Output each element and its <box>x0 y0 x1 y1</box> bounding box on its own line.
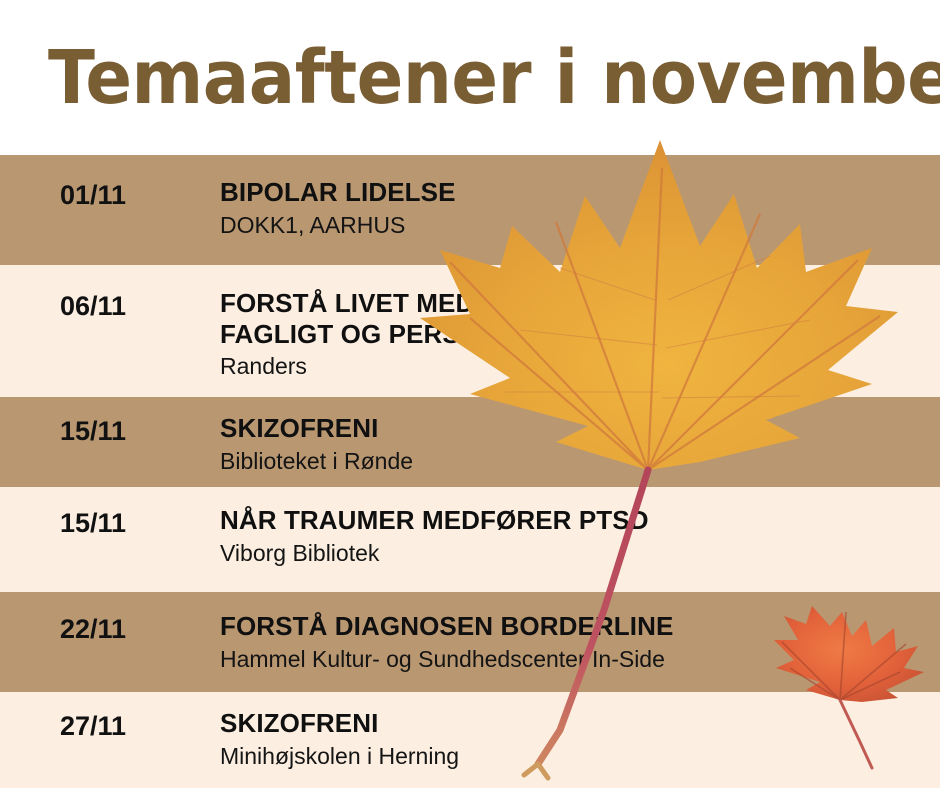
event-title: BIPOLAR LIDELSE <box>220 177 930 208</box>
event-date: 01/11 <box>60 181 126 209</box>
event-date: 15/11 <box>60 417 126 445</box>
event-date: 06/11 <box>60 292 126 320</box>
event-row: 01/11 BIPOLAR LIDELSE DOKK1, AARHUS <box>0 155 940 265</box>
event-location: Randers <box>220 353 930 381</box>
page-title: Temaaftener i november <box>48 41 940 115</box>
event-text-block: FORSTÅ LIVET MED AUTISME UD FRA ET FAGLI… <box>220 288 930 381</box>
event-title: SKIZOFRENI <box>220 708 930 739</box>
event-title-line1: SKIZOFRENI <box>220 413 378 443</box>
event-date: 15/11 <box>60 509 126 537</box>
event-title-line1: FORSTÅ LIVET MED AUTISME UD FRA ET <box>220 288 744 318</box>
event-row: 27/11 SKIZOFRENI Minihøjskolen i Herning <box>0 692 940 788</box>
event-row: 22/11 FORSTÅ DIAGNOSEN BORDERLINE Hammel… <box>0 592 940 692</box>
event-location: Minihøjskolen i Herning <box>220 743 930 771</box>
event-title-line1: SKIZOFRENI <box>220 708 378 738</box>
event-list: 01/11 BIPOLAR LIDELSE DOKK1, AARHUS 06/1… <box>0 155 940 788</box>
event-title-line1: FORSTÅ DIAGNOSEN BORDERLINE <box>220 611 673 641</box>
event-location: Viborg Bibliotek <box>220 540 930 568</box>
event-row: 15/11 NÅR TRAUMER MEDFØRER PTSD Viborg B… <box>0 487 940 592</box>
poster-canvas: Temaaftener i november 01/11 BIPOLAR LID… <box>0 0 940 788</box>
event-location: Hammel Kultur- og Sundhedscenter In-Side <box>220 646 930 674</box>
event-text-block: BIPOLAR LIDELSE DOKK1, AARHUS <box>220 177 930 239</box>
event-text-block: NÅR TRAUMER MEDFØRER PTSD Viborg Bibliot… <box>220 505 930 567</box>
poster-header: Temaaftener i november <box>0 0 940 155</box>
event-title: SKIZOFRENI <box>220 413 930 444</box>
event-text-block: SKIZOFRENI Biblioteket i Rønde <box>220 413 930 475</box>
event-location: Biblioteket i Rønde <box>220 448 930 476</box>
event-text-block: FORSTÅ DIAGNOSEN BORDERLINE Hammel Kultu… <box>220 611 930 673</box>
event-title-line2: FAGLIGT OG PERSONLIGT PERSPEKTIV <box>220 319 930 350</box>
event-title-line1: BIPOLAR LIDELSE <box>220 177 456 207</box>
event-row: 15/11 SKIZOFRENI Biblioteket i Rønde <box>0 397 940 487</box>
event-date: 27/11 <box>60 712 126 740</box>
event-title: NÅR TRAUMER MEDFØRER PTSD <box>220 505 930 536</box>
event-title-line1: NÅR TRAUMER MEDFØRER PTSD <box>220 505 649 535</box>
event-text-block: SKIZOFRENI Minihøjskolen i Herning <box>220 708 930 770</box>
event-date: 22/11 <box>60 615 126 643</box>
event-location: DOKK1, AARHUS <box>220 212 930 240</box>
event-title: FORSTÅ DIAGNOSEN BORDERLINE <box>220 611 930 642</box>
event-title: FORSTÅ LIVET MED AUTISME UD FRA ET FAGLI… <box>220 288 930 349</box>
event-row: 06/11 FORSTÅ LIVET MED AUTISME UD FRA ET… <box>0 265 940 397</box>
